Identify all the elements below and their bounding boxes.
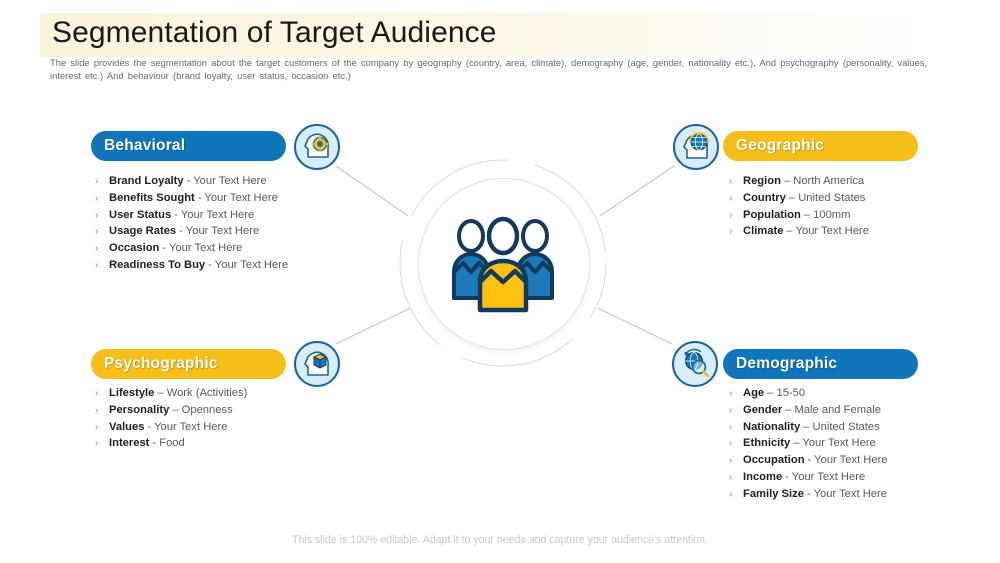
page-subtitle: The slide provides the segmentation abou…	[50, 56, 945, 82]
list-item-value: - Your Text Here	[174, 209, 254, 221]
chevron-right-icon: ›	[729, 176, 743, 187]
list-item: ›Brand Loyalty- Your Text Here	[95, 175, 288, 192]
list-item-term: Population	[743, 209, 801, 221]
list-item: ›User Status- Your Text Here	[95, 209, 288, 226]
head-gear-icon[interactable]	[294, 124, 340, 170]
list-item: ›Values- Your Text Here	[95, 421, 247, 438]
list-item-value: - Your Text Here	[208, 259, 288, 271]
chevron-right-icon: ›	[95, 438, 109, 449]
list-item: ›Nationality– United States	[729, 421, 888, 438]
chevron-right-icon: ›	[729, 388, 743, 399]
pill-demographic[interactable]: Demographic	[723, 349, 918, 379]
chevron-right-icon: ›	[95, 193, 109, 204]
list-item-term: Values	[109, 421, 144, 433]
pill-behavioral[interactable]: Behavioral	[91, 131, 286, 161]
list-item: ›Lifestyle– Work (Activities)	[95, 387, 247, 404]
head-cube-icon[interactable]	[294, 341, 340, 387]
list-item: ›Ethnicity– Your Text Here	[729, 437, 888, 454]
three-people-icon	[446, 210, 560, 316]
list-item-term: Region	[743, 175, 781, 187]
connector-demographic	[598, 308, 672, 344]
list-item-value: – Your Text Here	[793, 437, 876, 449]
pill-psychographic-label: Psychographic	[104, 355, 218, 373]
list-item-value: – Work (Activities)	[157, 387, 247, 399]
list-item-term: Lifestyle	[109, 387, 154, 399]
chevron-right-icon: ›	[729, 422, 743, 433]
list-item: ›Region– North America	[729, 175, 869, 192]
list-item: ›Climate– Your Text Here	[729, 225, 869, 242]
list-item-term: Brand Loyalty	[109, 175, 184, 187]
chevron-right-icon: ›	[729, 193, 743, 204]
list-item-value: - Your Text Here	[187, 175, 267, 187]
chevron-right-icon: ›	[95, 405, 109, 416]
list-psychographic: ›Lifestyle– Work (Activities)›Personalit…	[95, 387, 247, 454]
chevron-right-icon: ›	[729, 455, 743, 466]
footer-note: This slide is 100% editable. Adapt it to…	[0, 534, 1000, 546]
chevron-right-icon: ›	[729, 405, 743, 416]
globe-magnifier-icon[interactable]	[672, 341, 718, 387]
chevron-right-icon: ›	[729, 438, 743, 449]
chevron-right-icon: ›	[729, 472, 743, 483]
center-graphic	[398, 158, 608, 368]
list-item-term: Personality	[109, 404, 169, 416]
list-item-value: - Your Text Here	[179, 225, 259, 237]
list-item-term: Occupation	[743, 454, 805, 466]
list-item: ›Benefits Sought- Your Text Here	[95, 192, 288, 209]
list-item-term: Occasion	[109, 242, 159, 254]
list-item: ›Gender– Male and Female	[729, 404, 888, 421]
list-item: ›Income- Your Text Here	[729, 471, 888, 488]
list-item-value: - Food	[152, 437, 184, 449]
list-item-value: – 100mm	[804, 209, 851, 221]
list-demographic: ›Age– 15-50›Gender– Male and Female›Nati…	[729, 387, 888, 505]
list-item-value: - Your Text Here	[162, 242, 242, 254]
list-item: ›Family Size- Your Text Here	[729, 488, 888, 505]
list-item-value: – 15-50	[767, 387, 805, 399]
list-item-value: - Your Text Here	[808, 454, 888, 466]
list-behavioral: ›Brand Loyalty- Your Text Here›Benefits …	[95, 175, 288, 276]
list-item-value: – North America	[784, 175, 864, 187]
pill-psychographic[interactable]: Psychographic	[91, 349, 286, 379]
list-item-value: – Openness	[172, 404, 232, 416]
list-geographic: ›Region– North America›Country– United S…	[729, 175, 869, 242]
connector-geographic	[600, 166, 674, 216]
list-item-term: Nationality	[743, 421, 800, 433]
list-item-term: Age	[743, 387, 764, 399]
list-item: ›Readiness To Buy- Your Text Here	[95, 259, 288, 276]
chevron-right-icon: ›	[95, 243, 109, 254]
head-globe-icon[interactable]	[673, 124, 719, 170]
chevron-right-icon: ›	[95, 422, 109, 433]
chevron-right-icon: ›	[729, 226, 743, 237]
list-item-value: - Your Text Here	[807, 488, 887, 500]
list-item-term: User Status	[109, 209, 171, 221]
list-item-value: – United States	[789, 192, 866, 204]
list-item: ›Occupation- Your Text Here	[729, 454, 888, 471]
chevron-right-icon: ›	[95, 226, 109, 237]
list-item: ›Personality– Openness	[95, 404, 247, 421]
list-item-value: - Your Text Here	[785, 471, 865, 483]
list-item: ›Interest- Food	[95, 437, 247, 454]
list-item: ›Age– 15-50	[729, 387, 888, 404]
pill-demographic-label: Demographic	[736, 355, 837, 373]
pill-behavioral-label: Behavioral	[104, 137, 185, 155]
list-item-term: Country	[743, 192, 786, 204]
list-item-value: - Your Text Here	[147, 421, 227, 433]
chevron-right-icon: ›	[729, 210, 743, 221]
pill-geographic[interactable]: Geographic	[723, 131, 918, 161]
list-item-term: Gender	[743, 404, 782, 416]
list-item-term: Usage Rates	[109, 225, 176, 237]
pill-geographic-label: Geographic	[736, 137, 824, 155]
list-item-term: Readiness To Buy	[109, 259, 205, 271]
chevron-right-icon: ›	[95, 388, 109, 399]
list-item: ›Country– United States	[729, 192, 869, 209]
chevron-right-icon: ›	[95, 260, 109, 271]
list-item: ›Occasion- Your Text Here	[95, 242, 288, 259]
list-item: ›Usage Rates- Your Text Here	[95, 225, 288, 242]
chevron-right-icon: ›	[95, 210, 109, 221]
list-item-term: Benefits Sought	[109, 192, 195, 204]
list-item-term: Family Size	[743, 488, 804, 500]
list-item-value: – United States	[803, 421, 880, 433]
list-item-term: Ethnicity	[743, 437, 790, 449]
list-item: ›Population– 100mm	[729, 209, 869, 226]
list-item-value: - Your Text Here	[198, 192, 278, 204]
page-title: Segmentation of Target Audience	[52, 16, 497, 50]
chevron-right-icon: ›	[95, 176, 109, 187]
list-item-value: – Male and Female	[785, 404, 881, 416]
list-item-term: Interest	[109, 437, 149, 449]
list-item-term: Income	[743, 471, 782, 483]
list-item-term: Climate	[743, 225, 783, 237]
list-item-value: – Your Text Here	[786, 225, 869, 237]
chevron-right-icon: ›	[729, 489, 743, 500]
